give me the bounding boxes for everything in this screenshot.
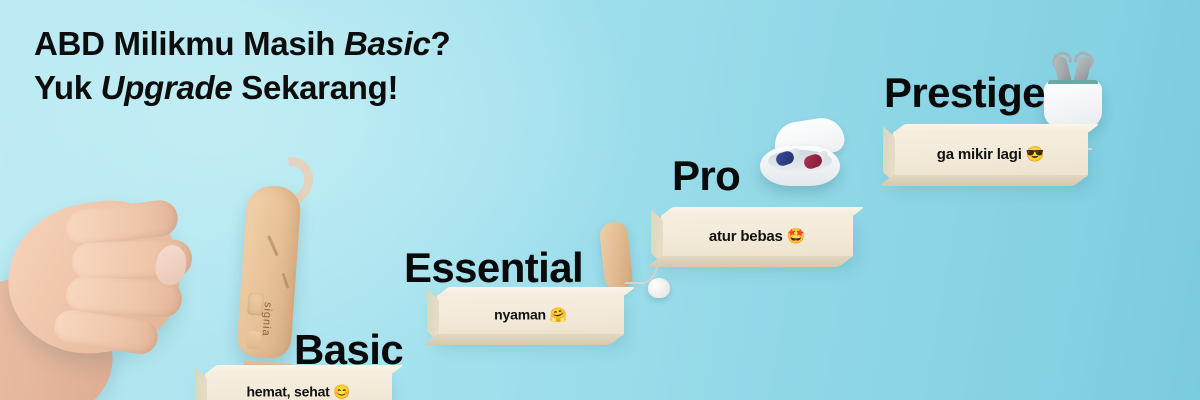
- headline-line2-emphasis: Upgrade: [101, 69, 233, 106]
- step-label-basic: Basic: [294, 329, 403, 371]
- headline-line2-part2: Sekarang!: [232, 69, 398, 106]
- step-caption-prestige: ga mikir lagi 😎: [893, 145, 1088, 163]
- block-bottom-face: [879, 175, 1088, 186]
- seam: [267, 235, 279, 256]
- block-top-face: [661, 207, 865, 216]
- step-block-pro: atur bebas 🤩: [661, 214, 853, 258]
- headline-line-2: Yuk Upgrade Sekarang!: [34, 66, 450, 110]
- headline-line1-part1: ABD Milikmu Masih: [34, 25, 344, 62]
- block-top-face: [893, 124, 1100, 133]
- step-block-basic: hemat, sehat 😊: [205, 372, 392, 400]
- step-block-essential: nyaman 🤗: [437, 294, 624, 336]
- upright-charging-case-icon: [1040, 50, 1106, 128]
- step-caption-basic: hemat, sehat 😊: [205, 384, 392, 400]
- block-bottom-face: [423, 334, 624, 345]
- case-body: [1044, 80, 1102, 128]
- headline-line1-emphasis: Basic: [344, 25, 431, 62]
- case-inner-lip: [1048, 80, 1098, 84]
- earbud-charging-case-icon: [752, 122, 844, 188]
- block-bottom-face: [647, 256, 853, 267]
- ear-dome: [648, 278, 670, 298]
- device-brand-label: signia: [259, 302, 273, 338]
- step-block-prestige: ga mikir lagi 😎: [893, 131, 1088, 177]
- step-caption-pro: atur bebas 🤩: [661, 227, 853, 245]
- promo-banner: ABD Milikmu Masih Basic? Yuk Upgrade Sek…: [0, 0, 1200, 400]
- seam: [282, 273, 290, 289]
- headline-line2-part1: Yuk: [34, 69, 101, 106]
- step-label-prestige: Prestige: [884, 72, 1045, 114]
- bte-body: signia: [236, 184, 302, 359]
- headline-line-1: ABD Milikmu Masih Basic?: [34, 22, 450, 66]
- step-label-pro: Pro: [672, 155, 740, 197]
- step-caption-essential: nyaman 🤗: [437, 307, 624, 324]
- step-label-essential: Essential: [404, 247, 583, 289]
- headline-line1-part2: ?: [431, 25, 451, 62]
- page-title: ABD Milikmu Masih Basic? Yuk Upgrade Sek…: [34, 22, 450, 110]
